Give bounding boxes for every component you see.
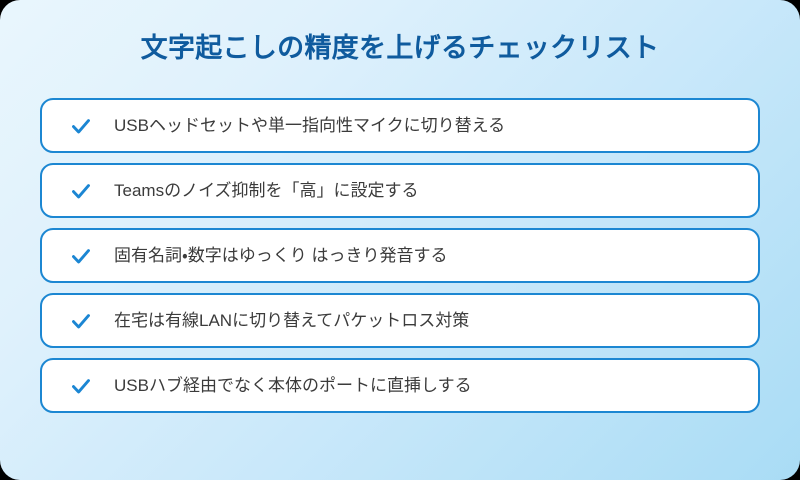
check-icon (70, 245, 92, 267)
checklist-item[interactable]: 固有名詞・数字はゆっくり はっきり発音する (40, 228, 760, 283)
checklist: USBヘッドセットや単一指向性マイクに切り替える Teamsのノイズ抑制を「高」… (40, 98, 760, 413)
slide-canvas: 文字起こしの精度を上げるチェックリスト USBヘッドセットや単一指向性マイクに切… (0, 0, 800, 480)
checklist-item[interactable]: USBヘッドセットや単一指向性マイクに切り替える (40, 98, 760, 153)
check-icon (70, 115, 92, 137)
checklist-item[interactable]: USBハブ経由でなく本体のポートに直挿しする (40, 358, 760, 413)
checklist-item[interactable]: Teamsのノイズ抑制を「高」に設定する (40, 163, 760, 218)
checklist-item-label: 固有名詞・数字はゆっくり はっきり発音する (114, 247, 448, 264)
checklist-item[interactable]: 在宅は有線LANに切り替えてパケットロス対策 (40, 293, 760, 348)
check-icon (70, 310, 92, 332)
checklist-item-label: Teamsのノイズ抑制を「高」に設定する (114, 182, 419, 199)
check-icon (70, 180, 92, 202)
page-title: 文字起こしの精度を上げるチェックリスト (0, 26, 800, 65)
check-icon (70, 375, 92, 397)
checklist-item-label: 在宅は有線LANに切り替えてパケットロス対策 (114, 312, 469, 329)
checklist-item-label: USBヘッドセットや単一指向性マイクに切り替える (114, 117, 505, 134)
checklist-item-label: USBハブ経由でなく本体のポートに直挿しする (114, 377, 472, 394)
